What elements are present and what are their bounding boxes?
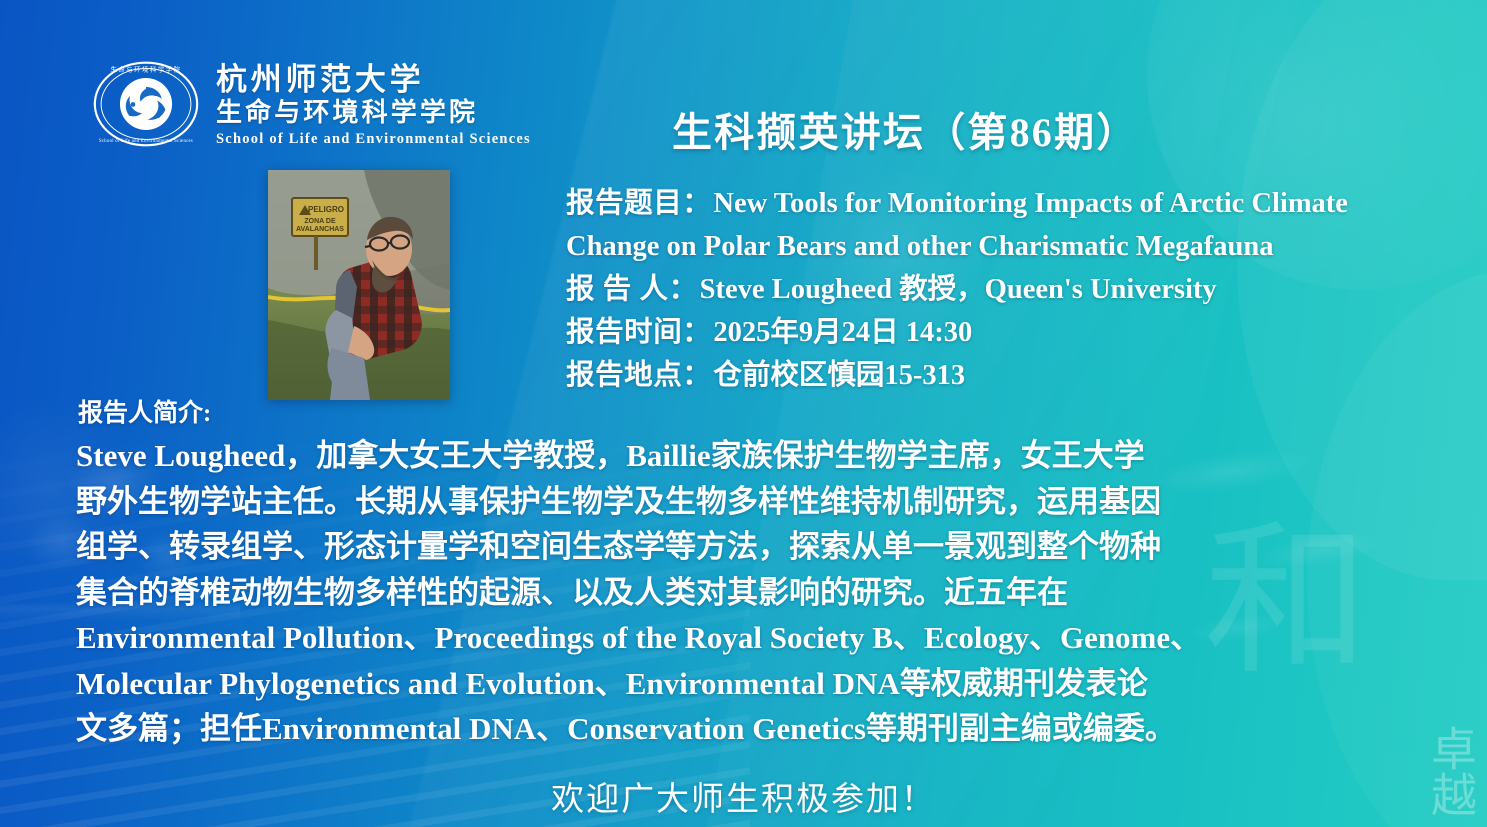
poster-header: 生命与环境科学学院 School of Life and Environment… bbox=[0, 0, 1487, 172]
bio-line: Molecular Phylogenetics and Evolution、En… bbox=[76, 661, 1416, 707]
svg-text:PELIGRO: PELIGRO bbox=[308, 205, 344, 214]
bio-heading: 报告人简介: bbox=[78, 393, 211, 429]
talk-title-row: 报告题目：New Tools for Monitoring Impacts of… bbox=[566, 182, 1446, 268]
svg-text:School of Life and Environment: School of Life and Environmental Science… bbox=[99, 139, 193, 144]
bio-line: 野外生物学站主任。长期从事保护生物学及生物多样性维持机制研究，运用基因 bbox=[76, 479, 1416, 525]
svg-text:生命与环境科学学院: 生命与环境科学学院 bbox=[111, 64, 182, 73]
college-name-en: School of Life and Environmental Science… bbox=[216, 132, 531, 147]
bio-line: Environmental Pollution、Proceedings of t… bbox=[76, 615, 1416, 661]
school-logo-text: 杭州师范大学 生命与环境科学学院 School of Life and Envi… bbox=[216, 62, 531, 147]
speaker-value: Steve Lougheed 教授，Queen's University bbox=[700, 274, 1217, 305]
svg-text:AVALANCHAS: AVALANCHAS bbox=[296, 226, 344, 233]
speaker-row: 报 告 人：Steve Lougheed 教授，Queen's Universi… bbox=[566, 268, 1446, 311]
place-value: 仓前校区慎园15-313 bbox=[713, 360, 965, 391]
bio-body: Steve Lougheed，加拿大女王大学教授，Baillie家族保护生物学主… bbox=[76, 433, 1416, 752]
school-seal-icon: 生命与环境科学学院 School of Life and Environment… bbox=[92, 60, 200, 148]
bio-line: 集合的脊椎动物生物多样性的起源、以及人类对其影响的研究。近五年在 bbox=[76, 570, 1416, 616]
bio-line: Steve Lougheed，加拿大女王大学教授，Baillie家族保护生物学主… bbox=[76, 433, 1416, 479]
speaker-photo: PELIGRO ZONA DE AVALANCHAS bbox=[268, 170, 450, 400]
college-name-cn: 生命与环境科学学院 bbox=[216, 100, 531, 126]
speaker-photo-image: PELIGRO ZONA DE AVALANCHAS bbox=[268, 170, 450, 400]
place-row: 报告地点：仓前校区慎园15-313 bbox=[566, 354, 1446, 397]
welcome-message: 欢迎广大师生积极参加！ bbox=[0, 772, 1487, 820]
place-label: 报告地点： bbox=[566, 360, 711, 391]
forum-title: 生科撷英讲坛（第86期） bbox=[672, 100, 1138, 158]
talk-info-block: 报告题目：New Tools for Monitoring Impacts of… bbox=[566, 182, 1446, 397]
bio-line: 组学、转录组学、形态计量学和空间生态学等方法，探索从单一景观到整个物种 bbox=[76, 524, 1416, 570]
time-label: 报告时间： bbox=[566, 317, 711, 348]
time-value: 2025年9月24日 14:30 bbox=[713, 317, 972, 348]
bio-line: 文多篇；担任Environmental DNA、Conservation Gen… bbox=[76, 706, 1416, 752]
time-row: 报告时间：2025年9月24日 14:30 bbox=[566, 311, 1446, 354]
svg-text:ZONA DE: ZONA DE bbox=[304, 218, 336, 225]
seminar-poster: 和 卓越 生命与环境科学学院 School of Life and Enviro… bbox=[0, 0, 1487, 827]
speaker-label: 报 告 人： bbox=[566, 274, 698, 305]
talk-title-label: 报告题目： bbox=[566, 188, 711, 219]
school-logo: 生命与环境科学学院 School of Life and Environment… bbox=[92, 60, 531, 148]
university-name-cn: 杭州师范大学 bbox=[216, 64, 531, 95]
